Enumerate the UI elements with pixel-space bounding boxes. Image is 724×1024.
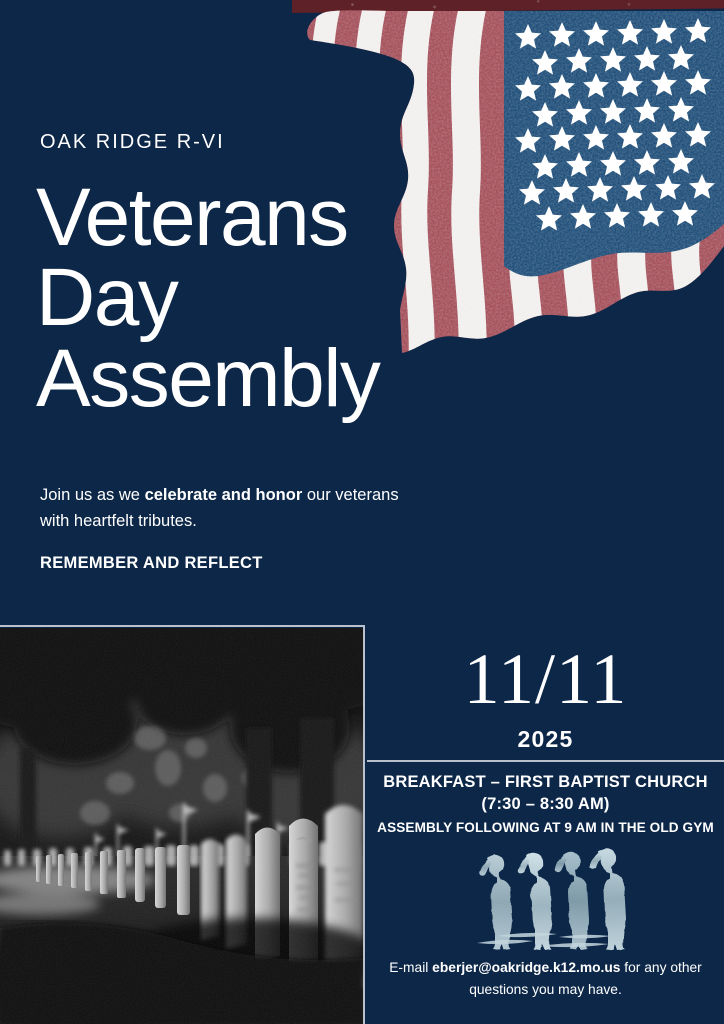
cemetery-photo bbox=[0, 628, 363, 1024]
photo-right-divider bbox=[363, 625, 365, 1024]
contact-text: E-mail eberjer@oakridge.k12.mo.us for an… bbox=[382, 957, 709, 1001]
photo-top-divider bbox=[0, 625, 363, 627]
intro-text-emphasis: celebrate and honor bbox=[145, 486, 303, 504]
headline-line-2: Day bbox=[36, 258, 476, 338]
saluting-soldiers-icon bbox=[463, 843, 628, 951]
assembly-detail: ASSEMBLY FOLLOWING AT 9 AM IN THE OLD GY… bbox=[369, 820, 722, 835]
school-name: OAK RIDGE R-VI bbox=[40, 131, 225, 154]
intro-text-before: Join us as we bbox=[40, 486, 145, 504]
breakfast-time: (7:30 – 8:30 AM) bbox=[481, 795, 609, 813]
headline-line-3: Assembly bbox=[36, 339, 476, 419]
event-year: 2025 bbox=[367, 726, 724, 753]
event-detail-primary: BREAKFAST – FIRST BAPTIST CHURCH (7:30 –… bbox=[375, 771, 716, 816]
veterans-day-poster: OAK RIDGE R-VI Veterans Day Assembly Joi… bbox=[0, 0, 724, 1024]
tagline: REMEMBER AND REFLECT bbox=[40, 554, 263, 573]
breakfast-location: BREAKFAST – FIRST BAPTIST CHURCH bbox=[383, 773, 708, 791]
contact-prefix: E-mail bbox=[389, 960, 432, 975]
details-divider bbox=[367, 760, 724, 762]
cemetery-photo-illustration bbox=[0, 628, 363, 1024]
soldiers-illustration bbox=[463, 843, 628, 951]
page-title: Veterans Day Assembly bbox=[36, 178, 476, 419]
event-date: 11/11 bbox=[367, 643, 724, 715]
headline-line-1: Veterans bbox=[36, 178, 476, 258]
contact-email[interactable]: eberjer@oakridge.k12.mo.us bbox=[432, 960, 620, 975]
intro-text: Join us as we celebrate and honor our ve… bbox=[40, 483, 400, 534]
